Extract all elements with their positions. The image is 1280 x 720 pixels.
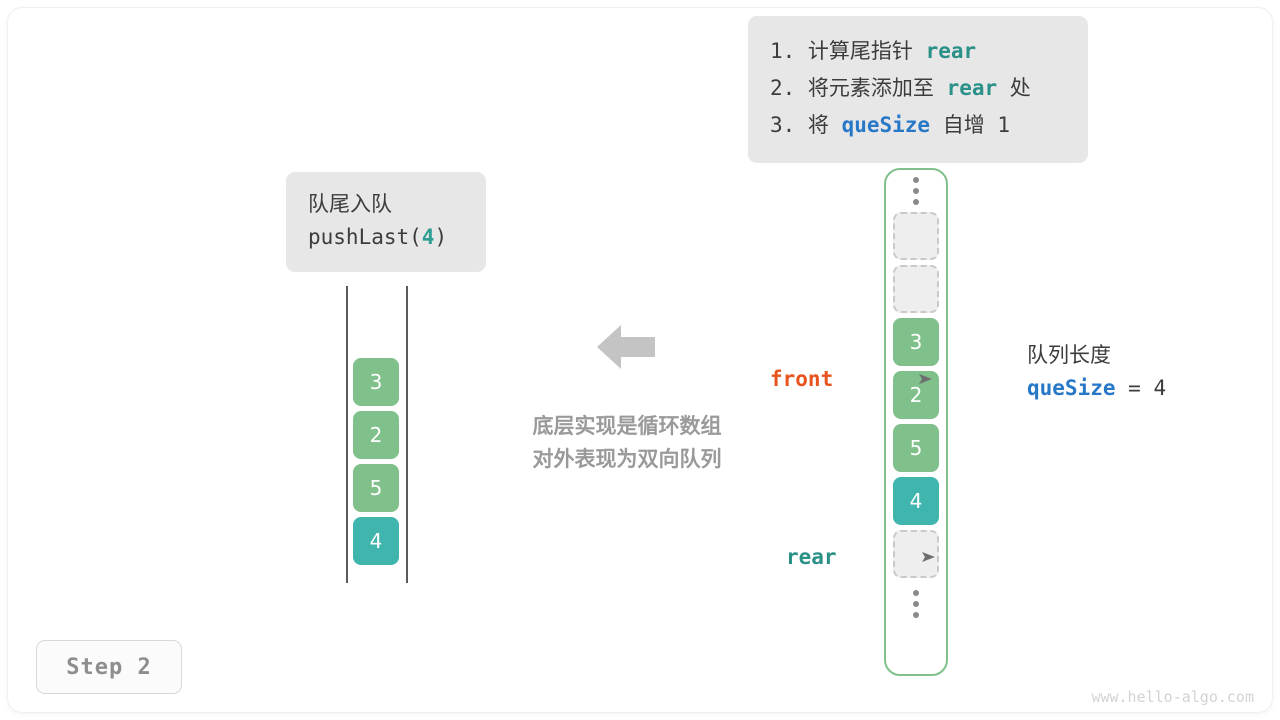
instruction-3-code: queSize (842, 113, 931, 137)
operation-title: 队尾入队 (308, 188, 464, 220)
circular-array-container: 3 2 5 4 (884, 168, 948, 676)
front-pointer-label: front (770, 343, 934, 415)
instruction-2-prefix: 2. 将元素添加至 (770, 76, 947, 100)
queue-size-note: 队列长度 queSize = 4 (1027, 340, 1247, 405)
queue-size-title: 队列长度 (1027, 340, 1247, 371)
watermark: www.hello-algo.com (1091, 688, 1254, 706)
instruction-3-suffix: 自增 1 (930, 113, 1010, 137)
rear-pointer-text: rear (786, 545, 837, 569)
front-pointer-text: front (770, 367, 833, 391)
operation-label-box: 队尾入队 pushLast(4) (286, 172, 486, 272)
instruction-1-code: rear (926, 39, 977, 63)
operation-call: pushLast(4) (308, 220, 464, 254)
deque-logical-view: 3 2 5 4 (346, 286, 408, 583)
step-badge: Step 2 (36, 640, 182, 694)
instruction-2-suffix: 处 (997, 76, 1031, 100)
queue-size-var: queSize (1027, 376, 1116, 400)
deque-rail-left (346, 286, 348, 583)
diagram-canvas: 1. 计算尾指针 rear 2. 将元素添加至 rear 处 3. 将 queS… (0, 0, 1280, 720)
caption-line-1: 底层实现是循环数组 (502, 410, 752, 443)
array-cell: 4 (893, 477, 939, 525)
deque-cell: 4 (353, 517, 399, 565)
operation-call-suffix: ) (434, 225, 447, 249)
deque-cell: 5 (353, 464, 399, 512)
instruction-2-code: rear (947, 76, 998, 100)
queue-size-expression: queSize = 4 (1027, 371, 1247, 405)
front-pointer-arrow-icon (842, 343, 934, 415)
array-cell-empty (893, 265, 939, 313)
ellipsis-top-icon (893, 170, 939, 212)
deque-cell: 2 (353, 411, 399, 459)
instruction-panel: 1. 计算尾指针 rear 2. 将元素添加至 rear 处 3. 将 queS… (748, 16, 1088, 163)
caption-line-2: 对外表现为双向队列 (502, 443, 752, 476)
deque-rail-right (406, 286, 408, 583)
array-cell-empty (893, 212, 939, 260)
instruction-line-3: 3. 将 queSize 自增 1 (770, 107, 1068, 144)
instruction-line-1: 1. 计算尾指针 rear (770, 33, 1068, 70)
deque-cell: 3 (353, 358, 399, 406)
array-cell: 5 (893, 424, 939, 472)
rear-pointer-label: rear (786, 521, 937, 593)
deque-cell-list: 3 2 5 4 (353, 358, 399, 570)
instruction-line-2: 2. 将元素添加至 rear 处 (770, 70, 1068, 107)
operation-call-value: 4 (422, 225, 435, 249)
instruction-1-prefix: 1. 计算尾指针 (770, 39, 926, 63)
operation-call-prefix: pushLast( (308, 225, 422, 249)
center-caption: 底层实现是循环数组 对外表现为双向队列 (502, 410, 752, 476)
instruction-3-prefix: 3. 将 (770, 113, 842, 137)
rear-pointer-arrow-icon (846, 521, 938, 593)
left-arrow-icon (595, 322, 657, 372)
queue-size-value: = 4 (1116, 376, 1167, 400)
